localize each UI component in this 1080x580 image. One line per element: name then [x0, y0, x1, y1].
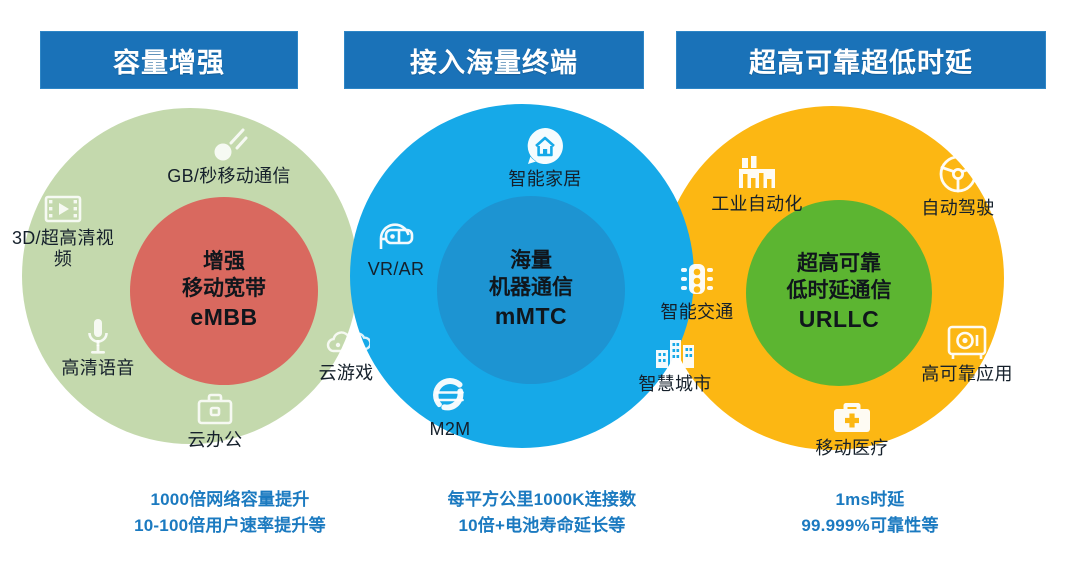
feature-cloud-office: 云办公 [160, 390, 270, 451]
banner-label: 超高可靠超低时延 [749, 41, 973, 80]
traffic-light-icon [678, 260, 716, 300]
core-embb-acronym: eMBB [190, 303, 257, 332]
core-embb-line2: 移动宽带 [182, 276, 266, 303]
medical-kit-icon [830, 398, 874, 436]
core-urllc-line2: 低时延通信 [787, 278, 892, 305]
film-play-icon [43, 192, 83, 226]
feature-m2m: M2M [400, 375, 500, 440]
smart-home-icon [522, 125, 568, 167]
feature-label: GB/秒移动通信 [167, 166, 290, 187]
banner-capacity-enhancement: 容量增强 [40, 31, 298, 89]
vr-headset-icon [372, 215, 420, 257]
caption-line-2: 10-100倍用户速率提升等 [60, 513, 400, 539]
core-urllc: 超高可靠 低时延通信 URLLC [746, 200, 932, 386]
core-embb-line1: 增强 [203, 249, 245, 276]
core-mmtc-acronym: mMTC [495, 302, 567, 331]
feature-label: 智能家居 [508, 169, 581, 190]
feature-autonomous-driving: 自动驾驶 [904, 152, 1012, 219]
feature-label: VR/AR [368, 259, 425, 280]
feature-label: 3D/超高清视频 [5, 228, 121, 270]
caption-line-1: 1000倍网络容量提升 [60, 487, 400, 513]
microphone-icon [83, 316, 113, 356]
shooting-star-icon [208, 124, 250, 164]
banner-ultra-reliable-low-latency: 超高可靠超低时延 [676, 31, 1046, 89]
caption-connections: 每平方公里1000K连接数 10倍+电池寿命延长等 [392, 487, 692, 539]
feature-vr-ar: VR/AR [348, 215, 444, 280]
feature-label: M2M [430, 419, 471, 440]
feature-mobile-healthcare: 移动医疗 [800, 398, 904, 459]
feature-smart-transportation: 智能交通 [643, 260, 751, 323]
banner-label: 接入海量终端 [410, 41, 578, 80]
feature-label: 移动医疗 [815, 438, 888, 459]
network-globe-icon [428, 375, 472, 417]
core-mmtc: 海量 机器通信 mMTC [437, 196, 625, 384]
feature-label: 工业自动化 [711, 194, 803, 215]
feature-3d-uhd-video: 3D/超高清视频 [5, 192, 121, 270]
caption-line-1: 每平方公里1000K连接数 [392, 487, 692, 513]
banner-label: 容量增强 [113, 41, 225, 80]
feature-hd-voice: 高清语音 [42, 316, 154, 379]
feature-high-reliability-applications: 高可靠应用 [912, 322, 1022, 385]
core-mmtc-line1: 海量 [510, 248, 552, 275]
feature-label: 云办公 [188, 430, 243, 451]
feature-label: 云游戏 [319, 363, 374, 384]
caption-latency: 1ms时延 99.999%可靠性等 [720, 487, 1020, 539]
feature-industrial-automation: 工业自动化 [695, 152, 819, 215]
banner-massive-connections: 接入海量终端 [344, 31, 644, 89]
steering-wheel-icon [936, 152, 980, 196]
caption-line-2: 99.999%可靠性等 [720, 513, 1020, 539]
briefcase-icon [194, 390, 236, 428]
feature-label: 智慧城市 [638, 374, 711, 395]
feature-cloud-gaming: 云游戏 [296, 327, 396, 384]
caption-line-2: 10倍+电池寿命延长等 [392, 513, 692, 539]
cloud-game-icon [322, 327, 370, 361]
feature-label: 自动驾驶 [921, 198, 994, 219]
diagram-canvas: 容量增强 接入海量终端 超高可靠超低时延 增强 移动宽带 eMBB 海量 机器通… [0, 0, 1080, 580]
core-embb: 增强 移动宽带 eMBB [130, 197, 318, 385]
caption-capacity: 1000倍网络容量提升 10-100倍用户速率提升等 [60, 487, 400, 539]
core-mmtc-line2: 机器通信 [489, 275, 573, 302]
feature-label: 高清语音 [61, 358, 134, 379]
feature-label: 智能交通 [660, 302, 733, 323]
feature-label: 高可靠应用 [921, 364, 1013, 385]
safe-vault-icon [944, 322, 990, 362]
city-buildings-icon [651, 332, 699, 372]
core-urllc-line1: 超高可靠 [797, 251, 881, 278]
feature-smart-city: 智慧城市 [620, 332, 730, 395]
feature-smart-home: 智能家居 [489, 125, 601, 190]
factory-icon [734, 152, 780, 192]
feature-gb-per-second: GB/秒移动通信 [149, 124, 309, 187]
caption-line-1: 1ms时延 [720, 487, 1020, 513]
core-urllc-acronym: URLLC [799, 305, 879, 334]
